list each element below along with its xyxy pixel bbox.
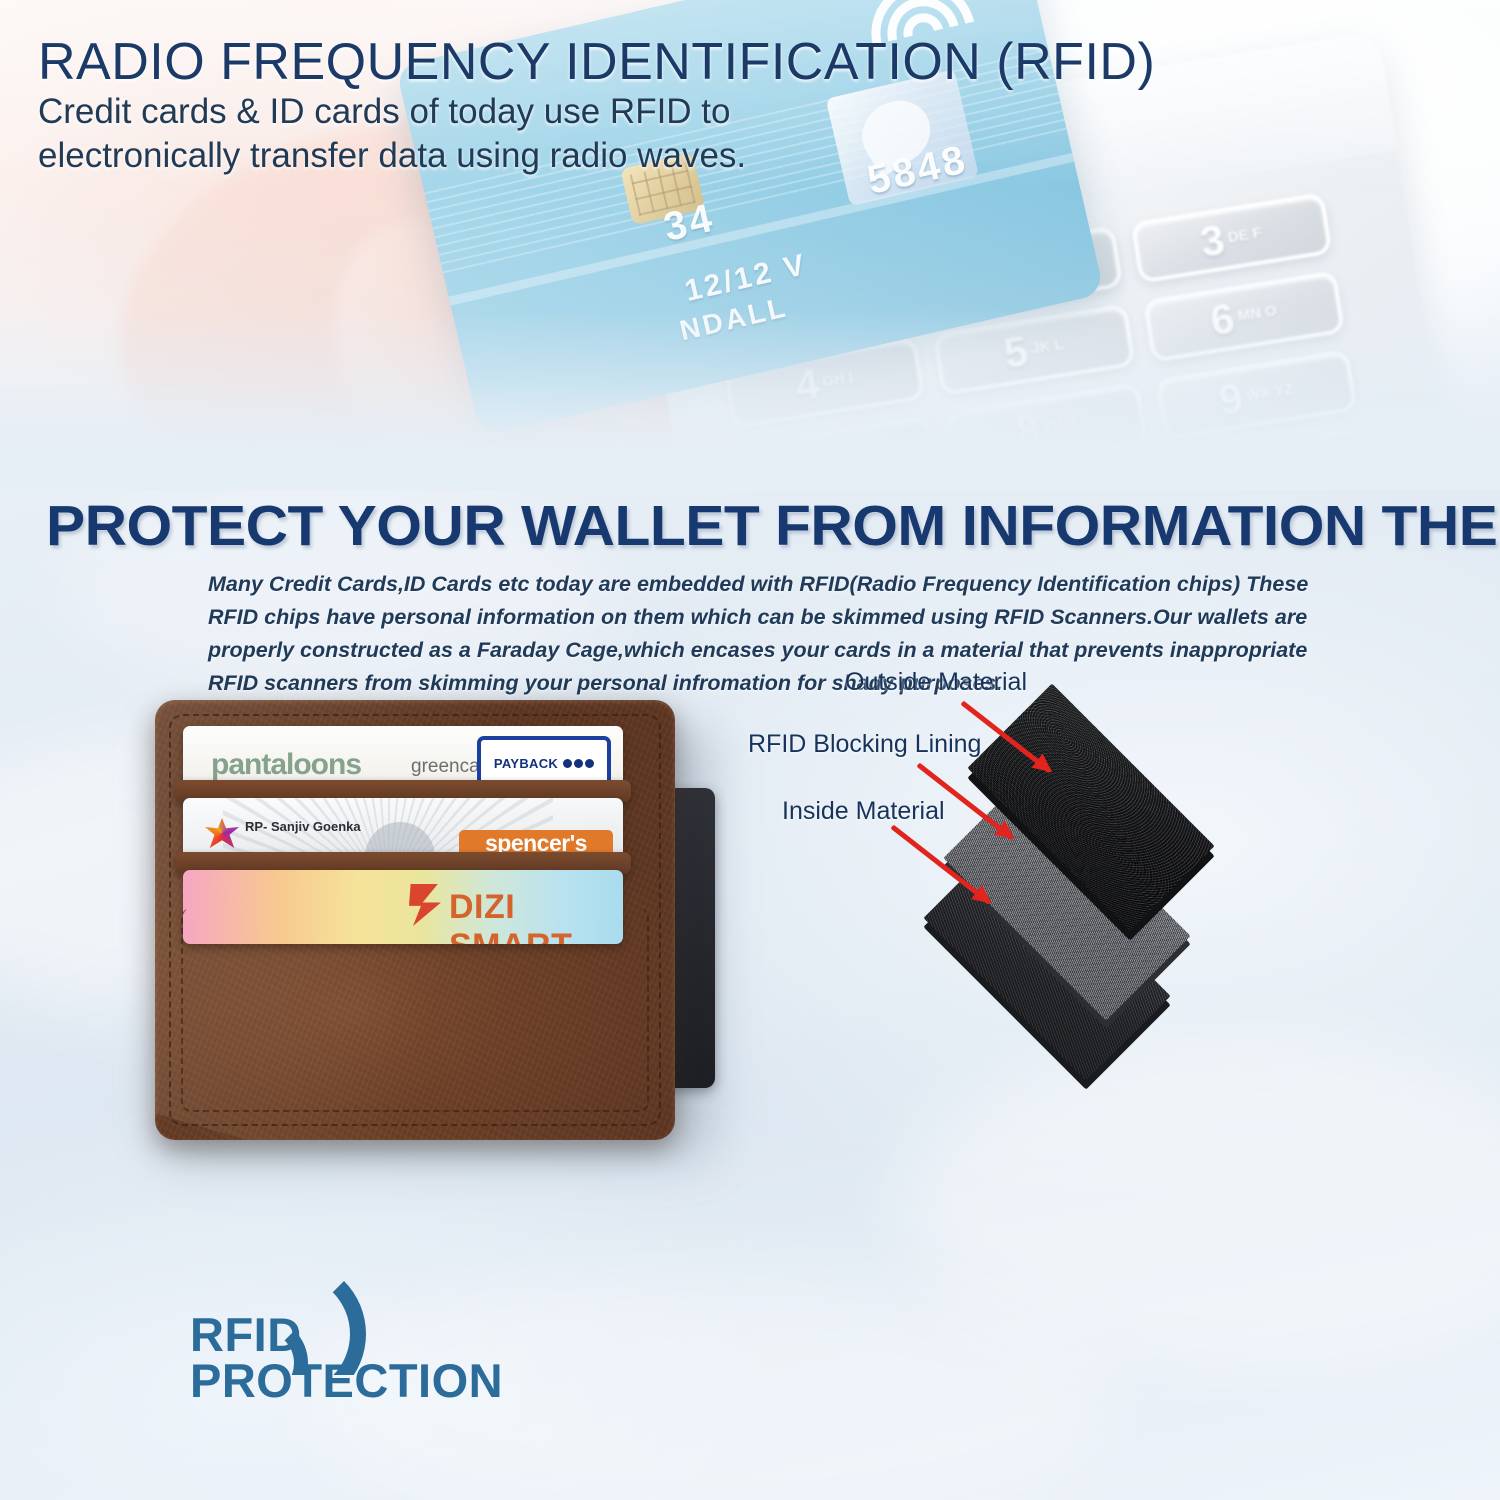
main-headline: PROTECT YOUR WALLET FROM INFORMATION THE… (46, 493, 1500, 559)
label-rfid-blocking-lining: RFID Blocking Lining (748, 730, 981, 759)
page-title: RADIO FREQUENCY IDENTIFICATION (RFID) (38, 32, 1155, 92)
logo-line-2: PROTECTION (190, 1353, 503, 1408)
photo-fade (0, 310, 1500, 490)
wallet-pocket-stitching (181, 908, 649, 1112)
label-inside-material: Inside Material (782, 797, 945, 826)
subtitle-line-2: electronically transfer data using radio… (38, 136, 746, 176)
body-paragraph: Many Credit Cards,ID Cards etc today are… (208, 568, 1328, 700)
leather-wallet: pantaloons greencard PAYBACK RP- Sanjiv … (155, 700, 675, 1140)
subtitle-line-1: Credit cards & ID cards of today use RFI… (38, 92, 730, 132)
wallet-product-photo: um pantaloons greencard PAYBACK RP- Sanj… (155, 700, 715, 1150)
infographic-canvas: 1QZ 2AB C 3DE F 4GH I 5JK L 6MN O 7PQ RS… (0, 0, 1500, 1500)
material-layers-diagram (930, 690, 1330, 970)
rfid-protection-logo: RFID PROTECTION (190, 1255, 470, 1425)
label-outside-material: Outside Material (845, 668, 1027, 697)
